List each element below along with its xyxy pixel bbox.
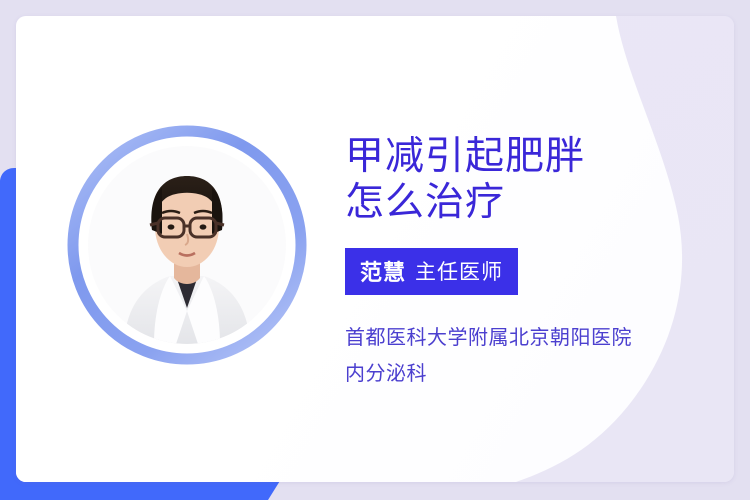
doctor-portrait (88, 146, 286, 344)
thumbnail-canvas: 甲减引起肥胖 怎么治疗 范慧主任医师 首都医科大学附属北京朝阳医院 内分泌科 (0, 0, 750, 500)
page-title: 甲减引起肥胖 怎么治疗 (345, 134, 685, 226)
hospital-name: 首都医科大学附属北京朝阳医院 (345, 317, 685, 359)
text-column: 甲减引起肥胖 怎么治疗 范慧主任医师 首都医科大学附属北京朝阳医院 内分泌科 (345, 134, 685, 389)
department-name: 内分泌科 (345, 359, 685, 389)
doctor-name: 范慧 (360, 260, 406, 285)
avatar (62, 120, 312, 370)
doctor-badge: 范慧主任医师 (345, 248, 518, 295)
doctor-role: 主任医师 (415, 261, 503, 284)
portrait-illustration (88, 146, 286, 344)
